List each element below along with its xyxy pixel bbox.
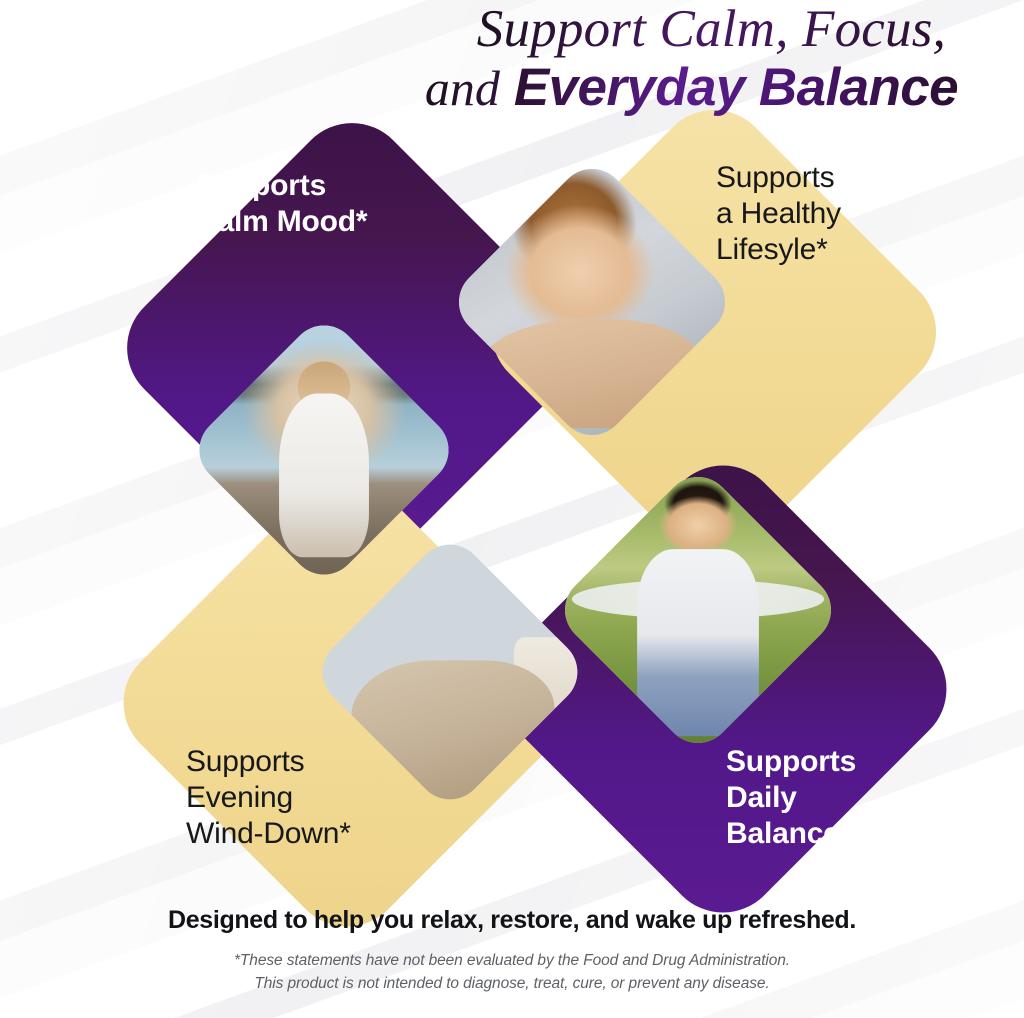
disclaimer-line-1: *These statements have not been evaluate… — [0, 950, 1024, 973]
disclaimer-line-2: This product is not intended to diagnose… — [0, 973, 1024, 996]
headline-connector: and — [425, 60, 514, 116]
benefit-card-healthy-lifestyle-label: Supports a Healthy Lifesyle* — [716, 160, 841, 268]
footer: Designed to help you relax, restore, and… — [0, 906, 1024, 996]
benefit-card-daily-balance-label: Supports Daily Balance* — [726, 744, 856, 852]
headline-line-1: Support Calm, Focus, — [477, 0, 946, 58]
page-title: Support Calm, Focus, andEveryday Balance — [0, 0, 1024, 115]
benefit-card-calm-mood-label: Supports Calm Mood* — [196, 168, 367, 240]
promo-poster: Support Calm, Focus, andEveryday Balance… — [0, 0, 1024, 1018]
tagline: Designed to help you relax, restore, and… — [0, 906, 1024, 935]
headline-emphasis: Everyday Balance — [514, 58, 958, 117]
benefit-card-evening-wind-down-label: Supports Evening Wind-Down* — [186, 744, 351, 852]
benefit-cards-grid: Supports Calm Mood* Supports a Healthy L… — [0, 0, 1024, 1018]
